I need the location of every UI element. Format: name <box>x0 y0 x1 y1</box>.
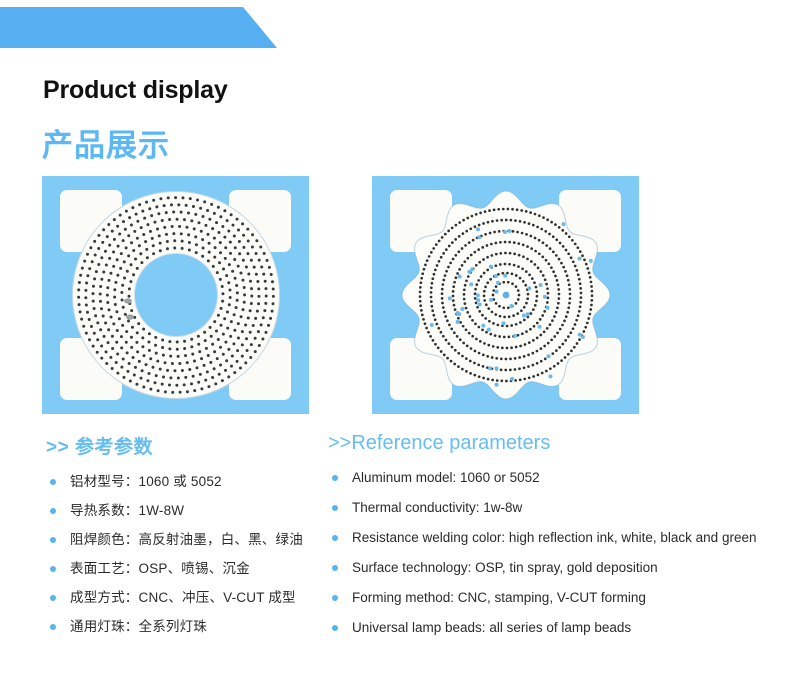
parameters-title-chinese: >> 参考参数 <box>46 432 346 459</box>
parameter-item: 成型方式：CNC、冲压、V-CUT 成型 <box>46 589 346 606</box>
parameters-list-english: Aluminum model: 1060 or 5052Thermal cond… <box>328 469 788 636</box>
page-title-english: Product display <box>43 76 228 105</box>
parameter-item: Surface technology: OSP, tin spray, gold… <box>328 559 788 576</box>
annular-pcb-board <box>72 191 280 399</box>
parameters-list-chinese: 铝材型号：1060 或 5052导热系数：1W-8W阻焊颜色：高反射油墨，白、黑… <box>46 473 346 635</box>
board-stage-right <box>372 176 639 414</box>
product-photo-annular-pcb <box>42 176 309 414</box>
parameter-item: Resistance welding color: high reflectio… <box>328 529 788 546</box>
parameter-item: 铝材型号：1060 或 5052 <box>46 473 346 490</box>
parameter-item: 阻焊颜色：高反射油墨，白、黑、绿油 <box>46 531 346 548</box>
parameter-item: Forming method: CNC, stamping, V-CUT for… <box>328 589 788 606</box>
led-dot-pattern-right <box>398 187 614 403</box>
parameter-item: 表面工艺：OSP、喷锡、沉金 <box>46 560 346 577</box>
product-photo-scalloped-pcb <box>372 176 639 414</box>
annular-pcb-center-hole <box>135 254 217 336</box>
scalloped-pcb-board <box>398 187 614 403</box>
product-display-page: UFO 工矿灯系列 Product display 产品展示 <box>0 0 800 681</box>
reference-parameters-english: >>Reference parameters Aluminum model: 1… <box>328 432 788 649</box>
parameter-item: Aluminum model: 1060 or 5052 <box>328 469 788 486</box>
parameter-item: 导热系数：1W-8W <box>46 502 346 519</box>
parameters-title-english: >>Reference parameters <box>328 432 788 455</box>
reference-parameters-chinese: >> 参考参数 铝材型号：1060 或 5052导热系数：1W-8W阻焊颜色：高… <box>46 432 346 647</box>
parameter-item: Universal lamp beads: all series of lamp… <box>328 619 788 636</box>
board-stage-left <box>42 176 309 414</box>
series-banner <box>0 7 280 48</box>
page-title-chinese: 产品展示 <box>42 120 170 165</box>
parameter-item: Thermal conductivity: 1w-8w <box>328 499 788 516</box>
parameter-item: 通用灯珠：全系列灯珠 <box>46 618 346 635</box>
